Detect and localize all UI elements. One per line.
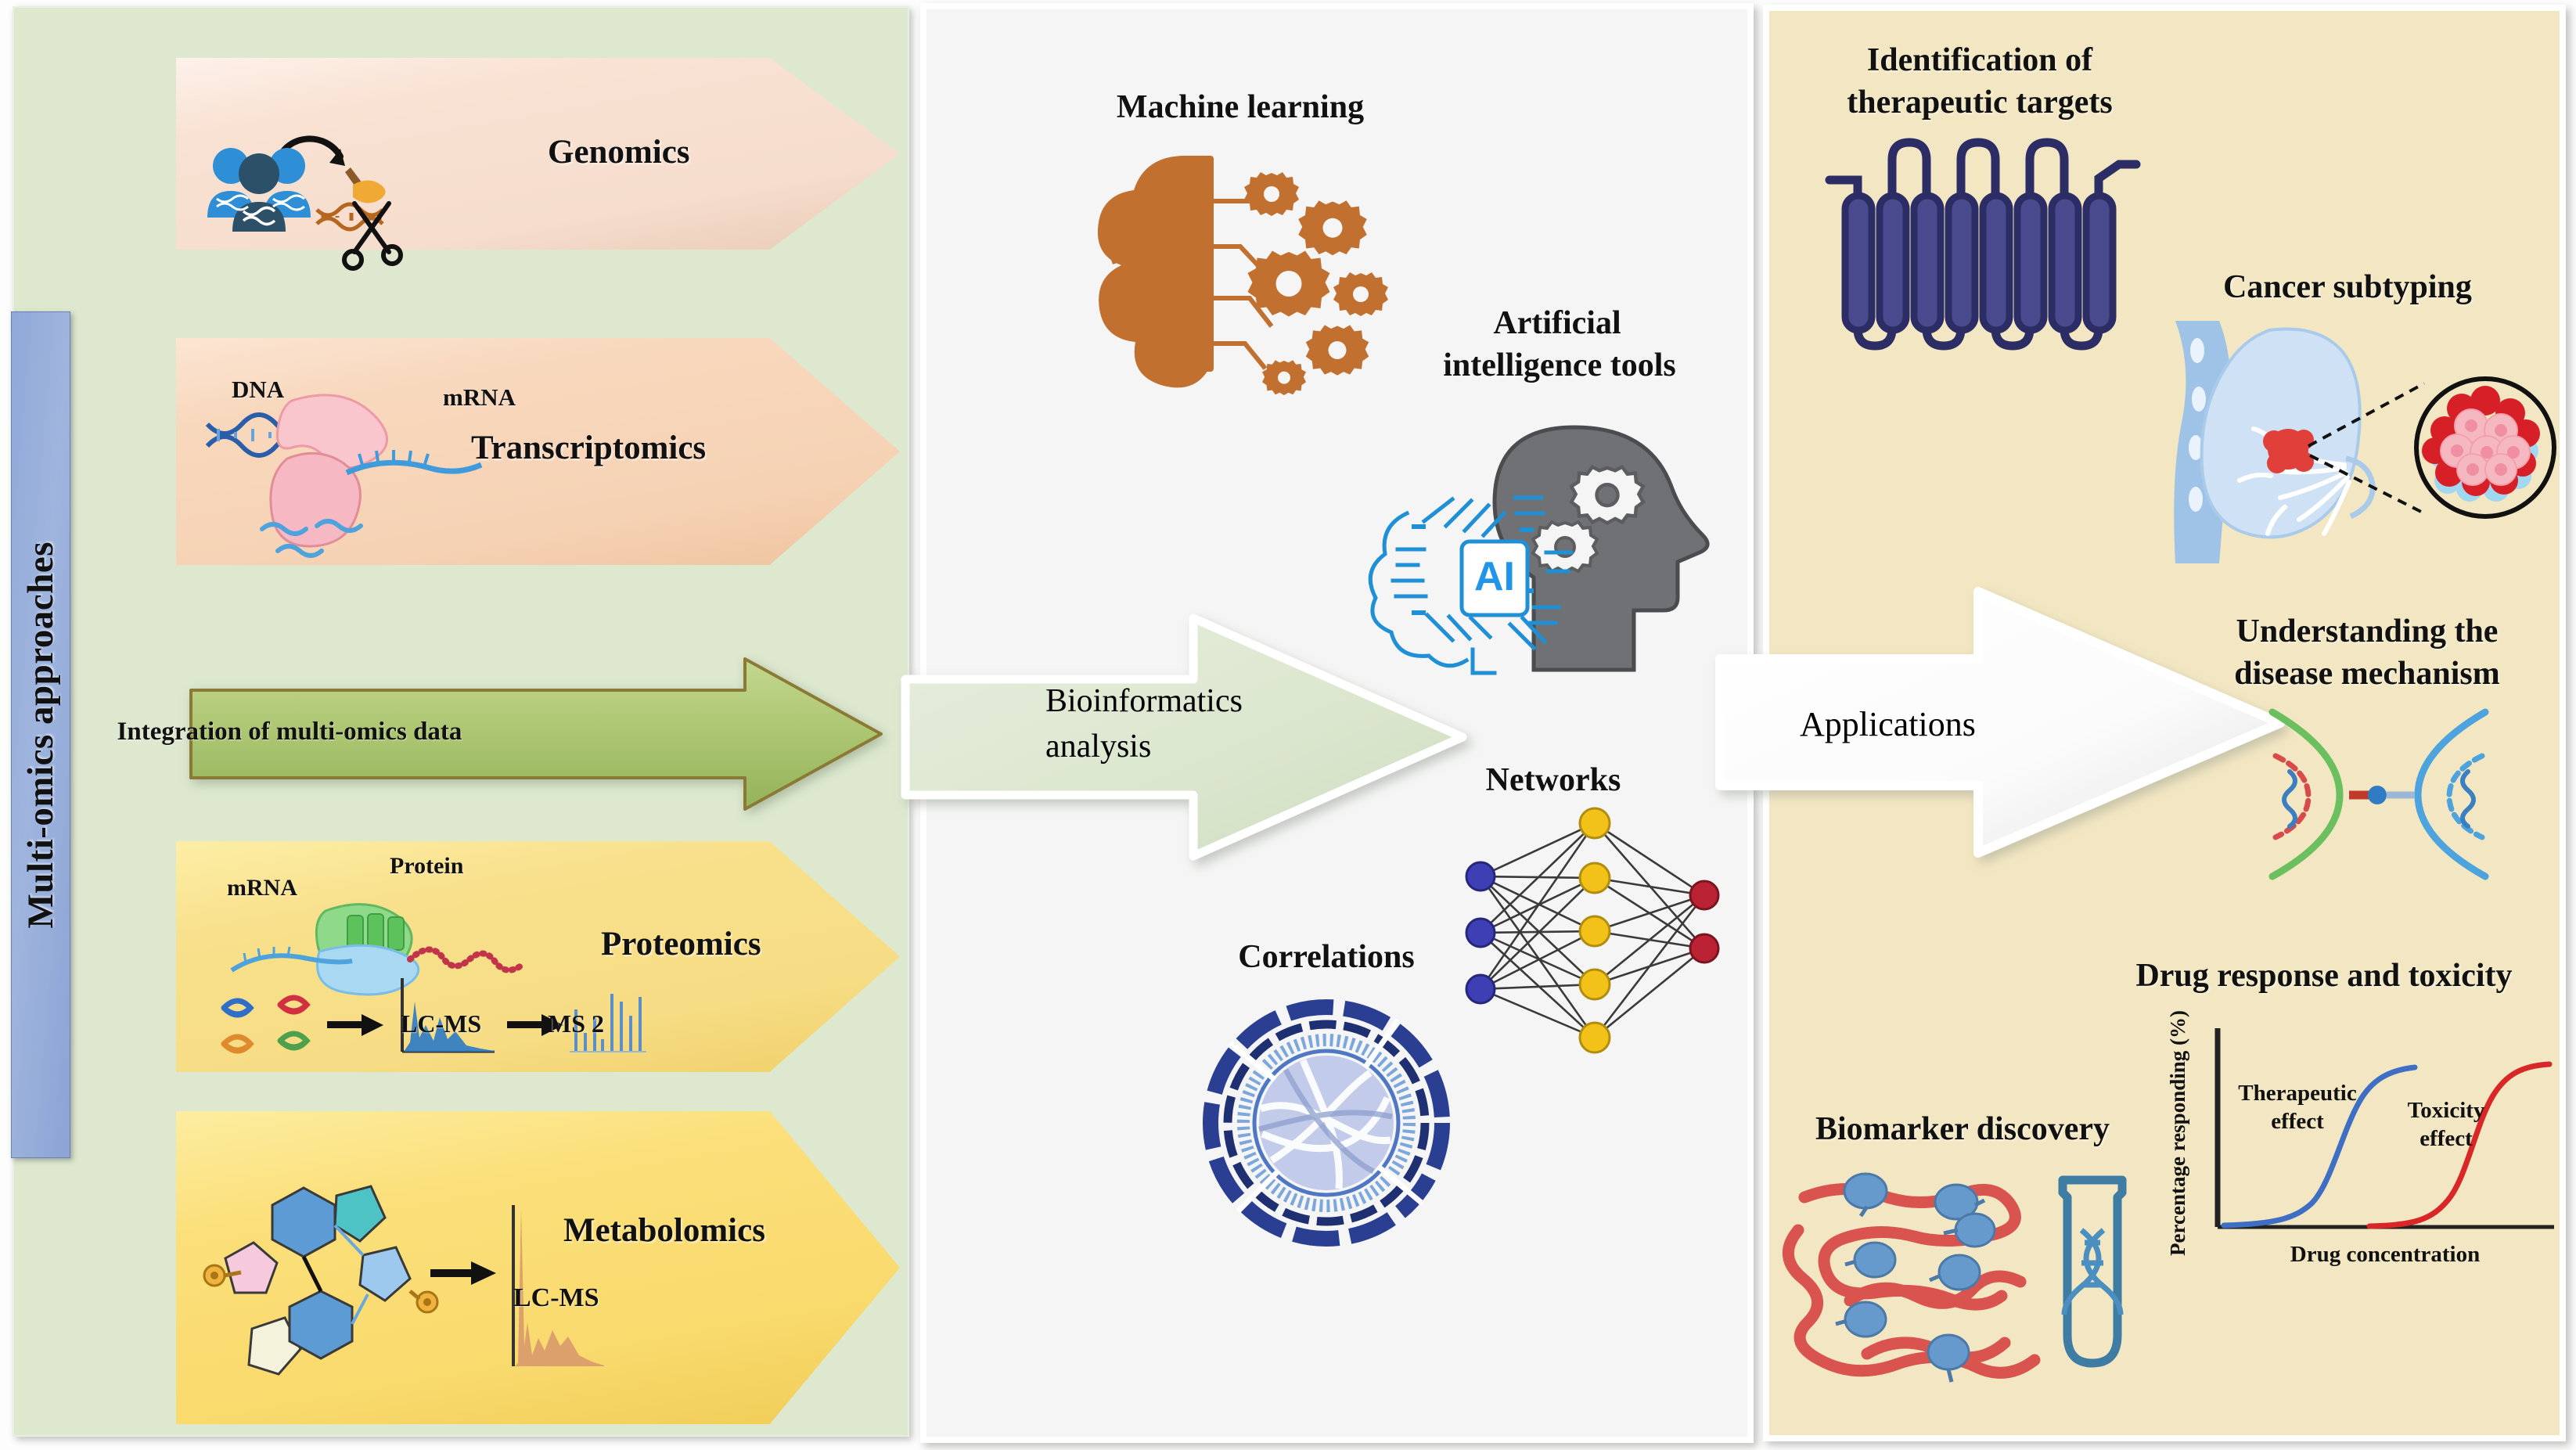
circos-plot-icon	[1197, 994, 1455, 1252]
proteomics-label-protein: Protein	[390, 853, 463, 880]
molecular-interaction-icon	[2261, 704, 2496, 884]
app-label-disease-mechanism-line1: Understanding the	[2183, 612, 2551, 652]
bioinformatics-label-line2: analysis	[1045, 728, 1296, 765]
omics-label-transcriptomics: Transcriptomics	[471, 429, 706, 467]
app-label-therapeutic-targets-line1: Identification of	[1800, 41, 2160, 81]
chart-annotation-therapeutic-l2: effect	[2271, 1109, 2324, 1134]
dose-response-chart-icon: Percentage responding (%) Drug concentra…	[2157, 1017, 2563, 1275]
chart-xlabel: Drug concentration	[2290, 1242, 2480, 1267]
center-label-machine-learning: Machine learning	[1072, 88, 1409, 128]
bioinformatics-label-line1: Bioinformatics	[1045, 682, 1296, 720]
proteomics-label-lcms: LC-MS	[401, 1009, 481, 1038]
chart-annotation-toxicity-l2: effect	[2419, 1126, 2473, 1151]
breast-tumor-icon	[2160, 321, 2559, 563]
center-label-ai-tools-line1: Artificial	[1385, 304, 1729, 344]
chart-annotation-therapeutic-l1: Therapeutic	[2238, 1081, 2357, 1106]
gpcr-membrane-protein-icon	[1823, 131, 2136, 390]
biomarker-protein-icon	[1775, 1158, 2142, 1401]
omics-label-metabolomics: Metabolomics	[563, 1211, 765, 1250]
chart-annotation-toxicity-l1: Toxicity	[2408, 1098, 2485, 1123]
app-label-drug-response: Drug response and toxicity	[2066, 956, 2576, 996]
proteomics-label-ms2: MS 2	[548, 1009, 604, 1038]
center-label-ai-tools-line2: intelligence tools	[1360, 346, 1759, 386]
diagram-canvas: Multi-omics approaches	[0, 0, 2576, 1450]
app-label-cancer-subtyping: Cancer subtyping	[2168, 268, 2527, 308]
neural-network-icon	[1455, 806, 1729, 1064]
integration-arrow-label: Integration of multi-omics data	[47, 689, 532, 775]
ai-chip-text: AI	[1474, 554, 1515, 599]
chart-ylabel: Percentage responding (%)	[2166, 1010, 2189, 1256]
metabolomics-icon-group	[203, 1150, 610, 1409]
app-label-disease-mechanism-line2: disease mechanism	[2175, 654, 2559, 694]
app-label-therapeutic-targets-line2: therapeutic targets	[1784, 83, 2175, 123]
center-label-networks: Networks	[1444, 761, 1663, 801]
app-label-biomarker-discovery: Biomarker discovery	[1775, 1110, 2150, 1150]
transcriptomics-icon-group	[200, 391, 528, 571]
omics-label-proteomics: Proteomics	[601, 925, 761, 963]
center-label-correlations: Correlations	[1197, 937, 1455, 977]
metabolomics-label-lcms: LC-MS	[513, 1283, 599, 1313]
genomics-icon-group	[200, 117, 466, 250]
omics-label-genomics: Genomics	[548, 133, 690, 171]
brain-gears-icon	[1084, 145, 1397, 434]
applications-arrow-label: Applications	[1800, 704, 2058, 744]
